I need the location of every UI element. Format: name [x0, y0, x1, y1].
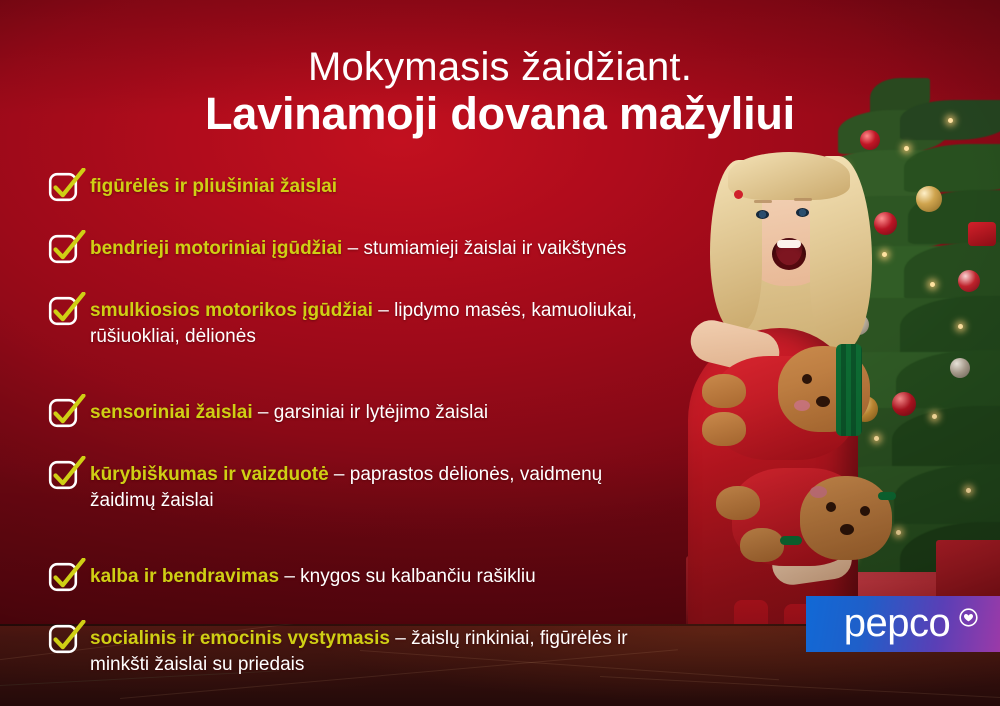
- checklist-item-text: kalba ir bendravimas – knygos su kalbanč…: [88, 562, 536, 590]
- checklist-item: figūrėlės ir pliušiniai žaislai: [48, 172, 668, 206]
- promo-poster: Mokymasis žaidžiant. Lavinamoji dovana m…: [0, 0, 1000, 706]
- checklist-item-keyword: socialinis ir emocinis vystymasis: [90, 628, 390, 649]
- checklist-item: sensoriniai žaislai – garsiniai ir lytėj…: [48, 398, 668, 432]
- checkbox-checked-icon: [48, 624, 88, 658]
- checkbox-checked-icon: [48, 562, 88, 596]
- pepco-logo[interactable]: pepco: [806, 596, 1000, 652]
- checklist-item-text: sensoriniai žaislai – garsiniai ir lytėj…: [88, 398, 488, 426]
- checklist-item-separator: –: [253, 402, 274, 423]
- checklist-item-text: socialinis ir emocinis vystymasis – žais…: [88, 624, 668, 678]
- checklist-item-keyword: kalba ir bendravimas: [90, 566, 279, 587]
- checkbox-checked-icon: [48, 398, 88, 432]
- checklist-item-text: figūrėlės ir pliušiniai žaislai: [88, 172, 337, 200]
- checklist-item-separator: –: [329, 464, 350, 485]
- checklist-item-text: kūrybiškumas ir vaizduotė – paprastos dė…: [88, 460, 668, 514]
- checklist-item-text: smulkiosios motorikos įgūdžiai – lipdymo…: [88, 296, 668, 350]
- checklist-item-keyword: kūrybiškumas ir vaizduotė: [90, 464, 329, 485]
- heart-in-circle-trademark-icon: [959, 608, 978, 627]
- checklist-item: bendrieji motoriniai įgūdžiai – stumiami…: [48, 234, 668, 268]
- checklist-item: kalba ir bendravimas – knygos su kalbanč…: [48, 562, 668, 596]
- checklist-item: smulkiosios motorikos įgūdžiai – lipdymo…: [48, 296, 668, 350]
- checkbox-checked-icon: [48, 234, 88, 268]
- pepco-wordmark: pepco: [844, 603, 950, 643]
- title-line-2: Lavinamoji dovana mažyliui: [0, 88, 1000, 140]
- checklist-item-text: bendrieji motoriniai įgūdžiai – stumiami…: [88, 234, 626, 262]
- title-line-1: Mokymasis žaidžiant.: [0, 44, 1000, 90]
- benefits-checklist: figūrėlės ir pliušiniai žaislaibendrieji…: [48, 172, 668, 706]
- checklist-item-description: knygos su kalbančiu rašikliu: [300, 566, 536, 587]
- checklist-item-keyword: smulkiosios motorikos įgūdžiai: [90, 300, 373, 321]
- checklist-item-separator: –: [279, 566, 300, 587]
- checkbox-checked-icon: [48, 296, 88, 330]
- checklist-item-keyword: bendrieji motoriniai įgūdžiai: [90, 238, 342, 259]
- page-title: Mokymasis žaidžiant. Lavinamoji dovana m…: [0, 44, 1000, 140]
- checklist-item-separator: –: [390, 628, 411, 649]
- checklist-item-keyword: sensoriniai žaislai: [90, 402, 253, 423]
- checkbox-checked-icon: [48, 172, 88, 206]
- checklist-item-separator: –: [342, 238, 363, 259]
- checklist-item-separator: –: [373, 300, 394, 321]
- checklist-item: kūrybiškumas ir vaizduotė – paprastos dė…: [48, 460, 668, 514]
- checklist-item: socialinis ir emocinis vystymasis – žais…: [48, 624, 668, 678]
- checklist-item-description: garsiniai ir lytėjimo žaislai: [274, 402, 488, 423]
- checklist-item-keyword: figūrėlės ir pliušiniai žaislai: [90, 176, 337, 197]
- checklist-item-description: stumiamieji žaislai ir vaikštynės: [363, 238, 626, 259]
- checkbox-checked-icon: [48, 460, 88, 494]
